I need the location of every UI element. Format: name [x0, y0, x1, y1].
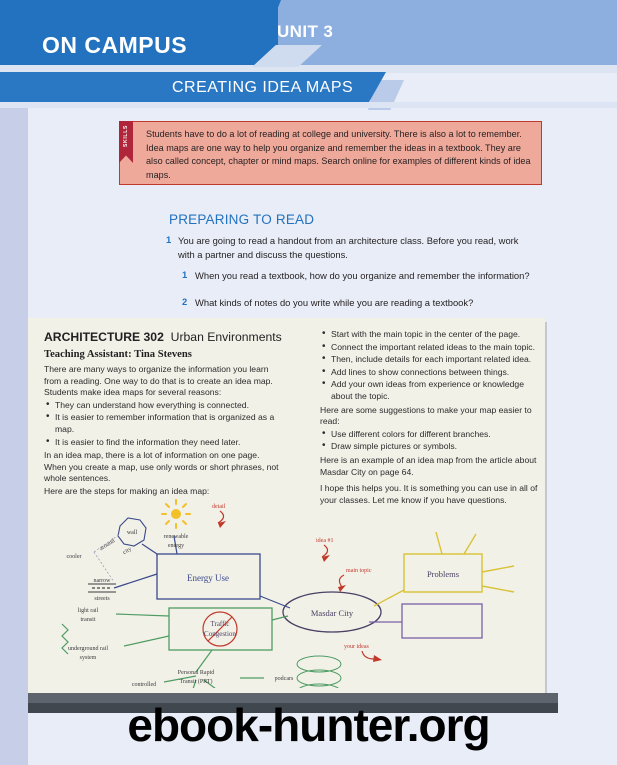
list-item: Draw simple pictures or symbols. — [320, 441, 538, 453]
textbook-page: ON CAMPUS UNIT 3 CREATING IDEA MAPS Stud… — [0, 0, 617, 765]
label-narrow: narrow — [94, 578, 112, 584]
idea-map-diagram: Energy Use Masdar City Problems — [44, 496, 534, 688]
handout-intro-paragraph: There are many ways to organize the info… — [44, 364, 284, 399]
handout-teaching-assistant: Teaching Assistant: Tina Stevens — [44, 349, 192, 360]
label-prt-1: Personal Rapid — [178, 670, 215, 676]
label-prt-2: Transit (PRT) — [180, 678, 213, 685]
handout-suggestions-list: Use different colors for different branc… — [320, 429, 538, 453]
list-item: Use different colors for different branc… — [320, 429, 538, 441]
handout-course-code: ARCHITECTURE 302 — [44, 330, 164, 344]
header-underline — [0, 102, 617, 108]
label-wall: wall — [127, 530, 138, 536]
blank-idea-box — [402, 604, 482, 638]
annotation-your-ideas: your ideas — [344, 644, 369, 650]
annotation-main-topic: main topic — [346, 568, 372, 574]
handout-steps-list: Start with the main topic in the center … — [320, 329, 538, 403]
exercise-instruction: You are going to read a handout from an … — [178, 234, 536, 261]
watermark-text: ebook-hunter.org — [0, 698, 617, 752]
label-cooler: cooler — [67, 554, 82, 560]
skills-tab-label: SKILLS — [123, 116, 129, 156]
sun-icon — [162, 500, 190, 528]
narrow-streets-symbol — [88, 584, 116, 592]
energy-use-label: Energy Use — [187, 573, 229, 583]
traffic-label-line2: Congestion — [204, 630, 236, 638]
label-around-city: around — [99, 538, 116, 552]
list-item: It is easier to find the information the… — [44, 437, 284, 449]
label-system: system — [80, 655, 97, 661]
sub-question-text-2: What kinds of notes do you write while y… — [195, 296, 540, 310]
label-energy: energy — [168, 543, 184, 549]
label-controlled: controlled — [132, 682, 156, 688]
list-item: Start with the main topic in the center … — [320, 329, 538, 341]
list-item: They can understand how everything is co… — [44, 400, 284, 412]
problems-label: Problems — [427, 569, 459, 579]
label-podcars: podcars — [275, 676, 294, 682]
unit-label: UNIT 3 — [277, 22, 333, 42]
label-city: city — [122, 546, 133, 556]
page-header: ON CAMPUS UNIT 3 CREATING IDEA MAPS — [0, 0, 617, 118]
label-renewable: renewable — [164, 534, 189, 540]
exercise-number: 1 — [166, 234, 171, 245]
annotation-arrowheads — [218, 521, 382, 662]
annotation-idea1: idea #1 — [316, 538, 334, 544]
list-item: Add lines to show connections between th… — [320, 367, 538, 379]
section-title-preparing-to-read: PREPARING TO READ — [169, 212, 314, 227]
label-transit: transit — [81, 617, 96, 623]
handout-note-paragraph: In an idea map, there is a lot of inform… — [44, 450, 284, 485]
skills-callout-text: Students have to do a lot of reading at … — [146, 128, 532, 182]
page-subtitle: CREATING IDEA MAPS — [172, 79, 353, 97]
list-item: Connect the important related ideas to t… — [320, 342, 538, 354]
traffic-label-line1: Traffic — [210, 620, 229, 628]
list-item: Then, include details for each important… — [320, 354, 538, 366]
sub-question-text-1: When you read a textbook, how do you org… — [195, 269, 540, 283]
handout-course-name: Urban Environments — [171, 330, 282, 344]
sub-question-number-1: 1 — [182, 269, 187, 280]
list-item: It is easier to remember information tha… — [44, 412, 284, 435]
brand-title: ON CAMPUS — [42, 32, 187, 59]
handout-document: ARCHITECTURE 302 Urban Environments Teac… — [28, 318, 545, 693]
traffic-branch-lines — [116, 614, 264, 688]
handout-suggestions-intro: Here are some suggestions to make your m… — [320, 405, 538, 428]
handout-left-column: There are many ways to organize the info… — [44, 364, 284, 499]
label-light-rail: light rail — [78, 608, 99, 614]
masdar-city-label: Masdar City — [311, 608, 354, 618]
sub-question-number-2: 2 — [182, 296, 187, 307]
label-underground: underground rail — [68, 646, 108, 652]
podcars-symbol — [297, 656, 341, 688]
skills-callout-box: Students have to do a lot of reading at … — [119, 121, 542, 185]
annotation-arrows — [218, 511, 374, 659]
list-item: Add your own ideas from experience or kn… — [320, 379, 538, 402]
handout-course-heading: ARCHITECTURE 302 Urban Environments — [44, 330, 282, 344]
annotation-detail: detail — [212, 504, 226, 510]
handout-example-note: Here is an example of an idea map from t… — [320, 455, 538, 478]
handout-right-column: Start with the main topic in the center … — [320, 328, 538, 507]
handout-reasons-list: They can understand how everything is co… — [44, 400, 284, 448]
label-streets: streets — [94, 596, 110, 602]
